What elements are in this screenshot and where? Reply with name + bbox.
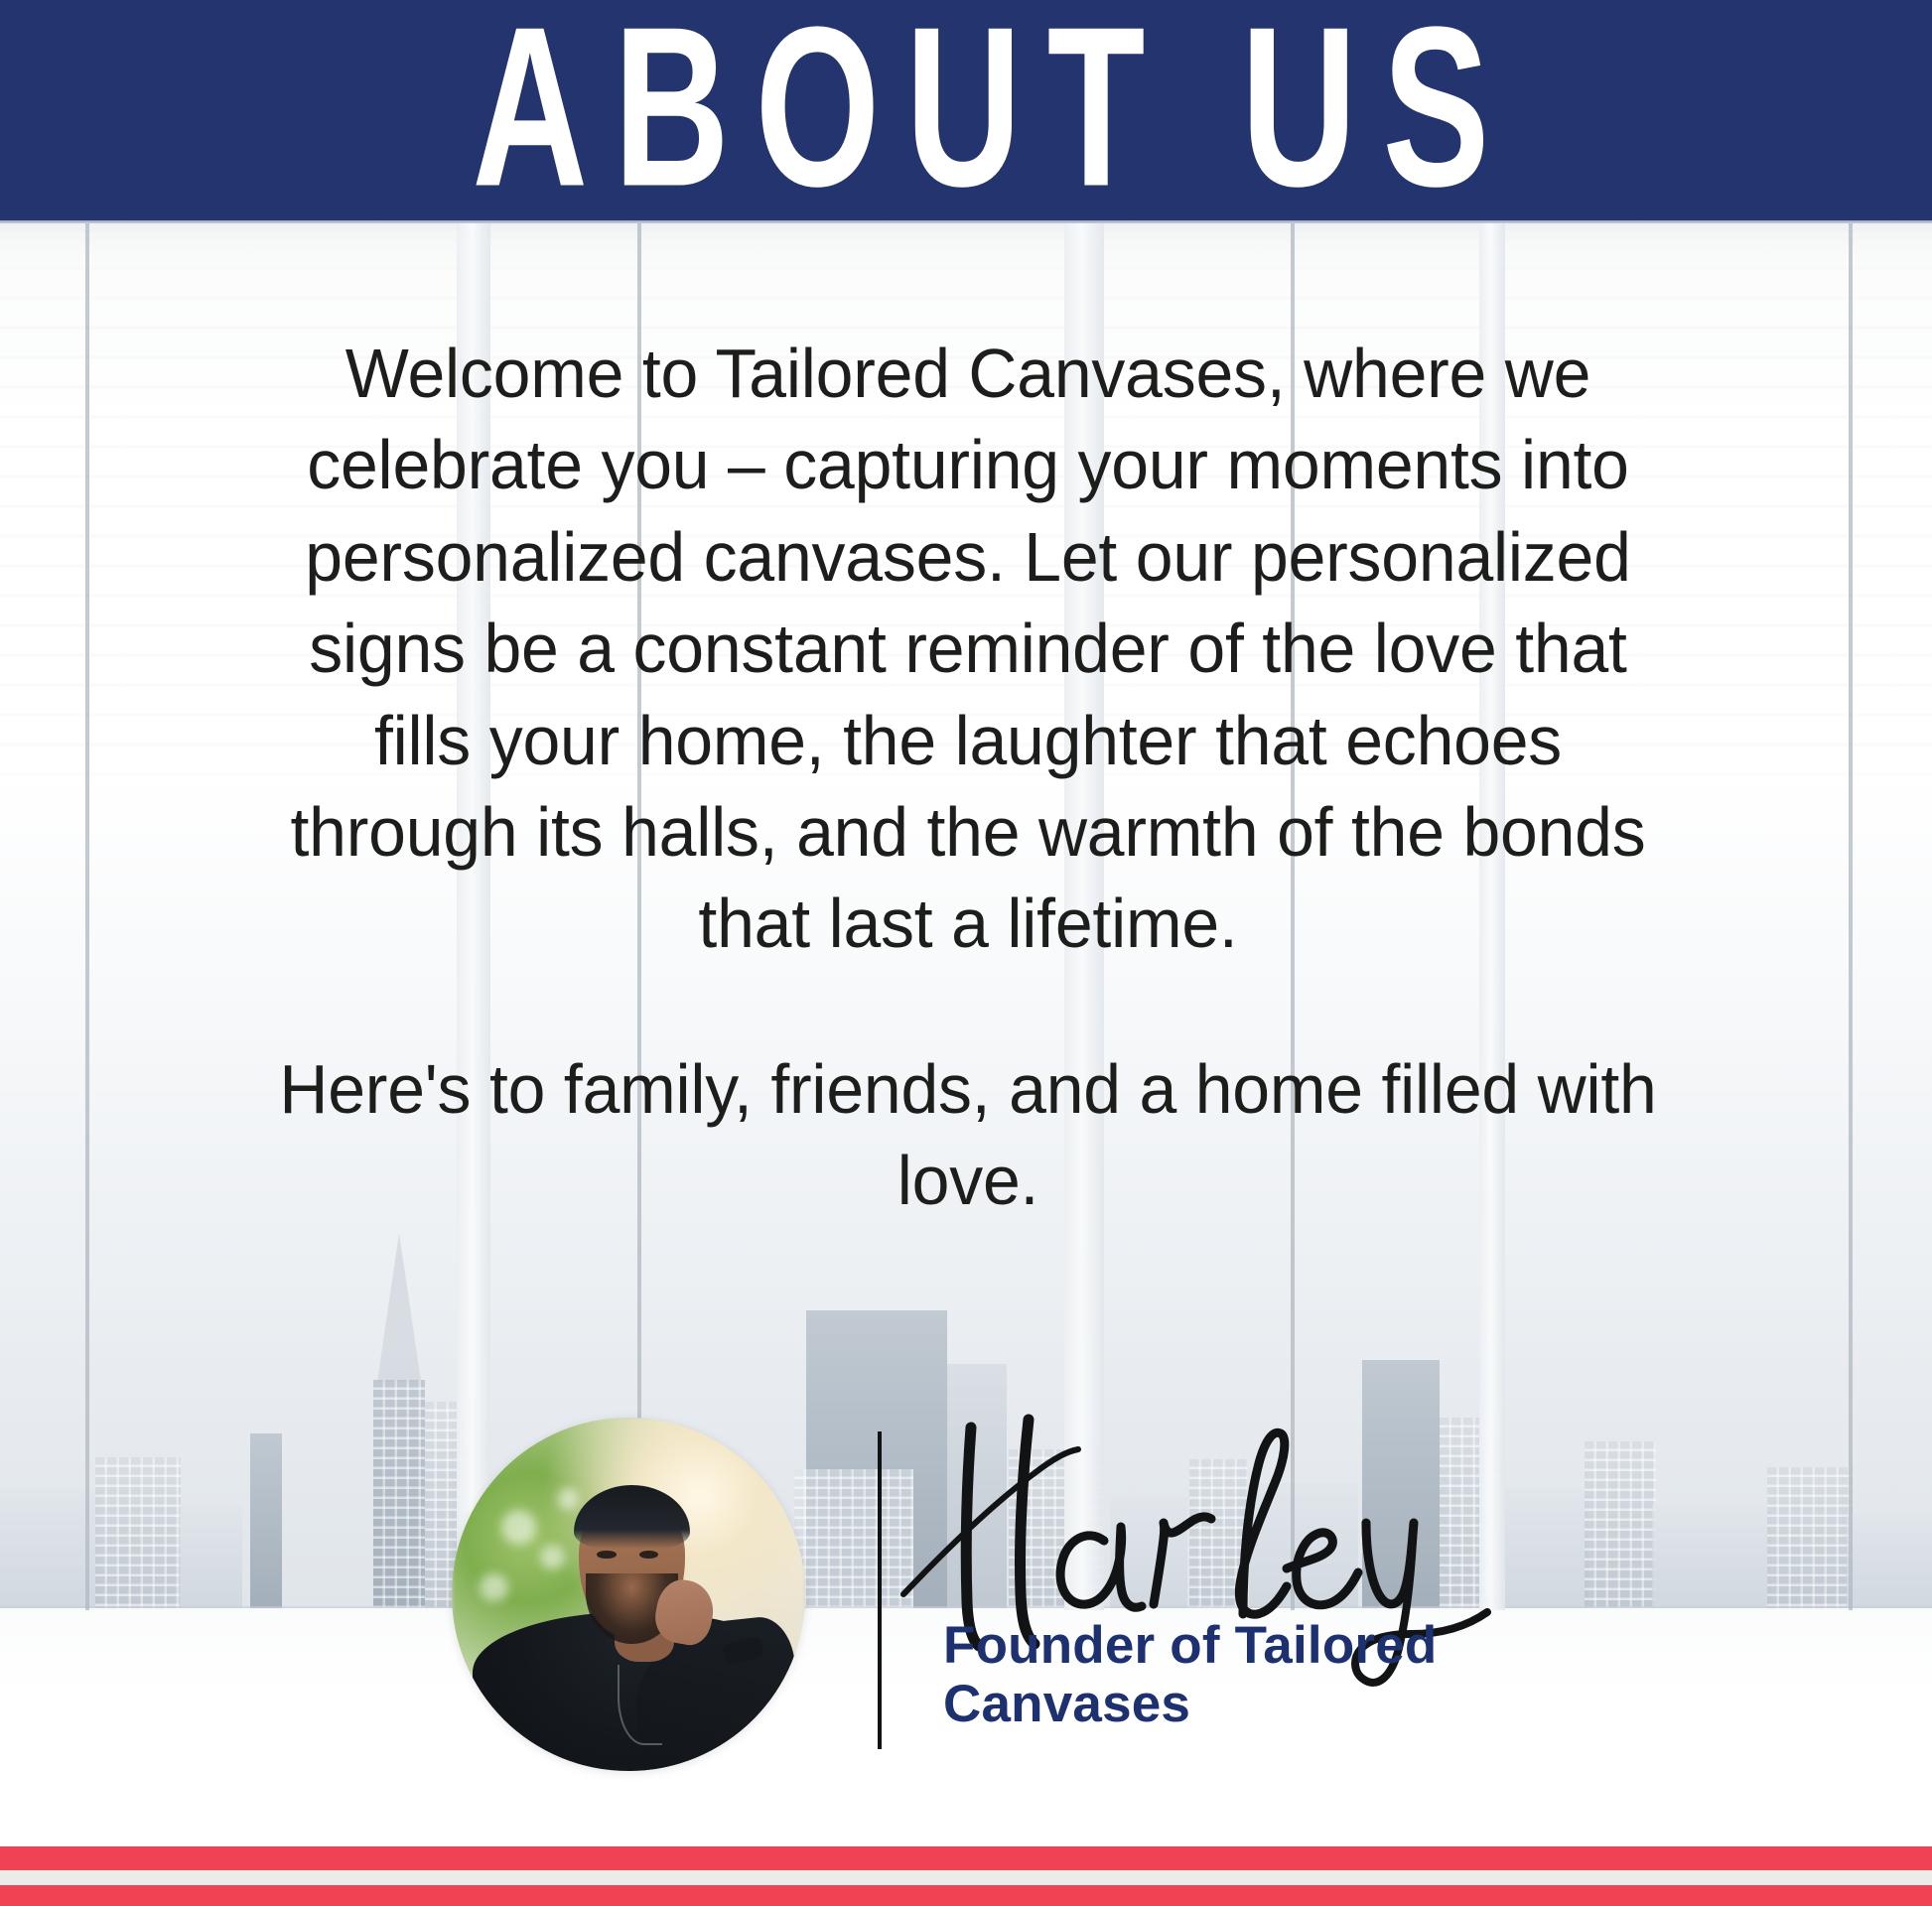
window-mullion [1849,220,1853,1610]
avatar-bokeh [480,1573,507,1601]
avatar-bokeh [558,1488,579,1509]
about-us-page: ABOUT US Welcome to Tailored Canvases, w… [0,0,1932,1906]
founder-role: Founder of Tailored Canvases [943,1616,1579,1734]
about-paragraph-2: Here's to family, friends, and a home fi… [238,1043,1698,1227]
header-underline [0,220,1932,223]
founder-role-line-2: Canvases [943,1675,1579,1733]
founder-role-line-1: Founder of Tailored [943,1616,1579,1675]
signature-divider [878,1431,882,1749]
page-title-text: ABOUT US [447,0,1516,220]
about-paragraph-2-text: Here's to family, friends, and a home fi… [260,1043,1676,1227]
about-us-copy: Welcome to Tailored Canvases, where we c… [238,328,1698,1227]
page-title: ABOUT US [0,13,1932,200]
footer-stripe-top [0,1846,1932,1870]
footer-stripe-gap [0,1870,1932,1885]
footer-stripe-bottom [0,1885,1932,1906]
window-mullion [85,220,89,1610]
about-paragraph-1: Welcome to Tailored Canvases, where we c… [238,328,1698,970]
page-header-banner: ABOUT US [0,0,1932,220]
avatar-eye [639,1551,659,1560]
avatar [452,1418,805,1771]
paragraph-spacer [238,970,1698,1043]
cityscape-skyline [0,1191,1932,1608]
about-paragraph-1-text: Welcome to Tailored Canvases, where we c… [260,328,1676,970]
avatar-eye [597,1551,617,1560]
avatar-bokeh [540,1545,565,1569]
